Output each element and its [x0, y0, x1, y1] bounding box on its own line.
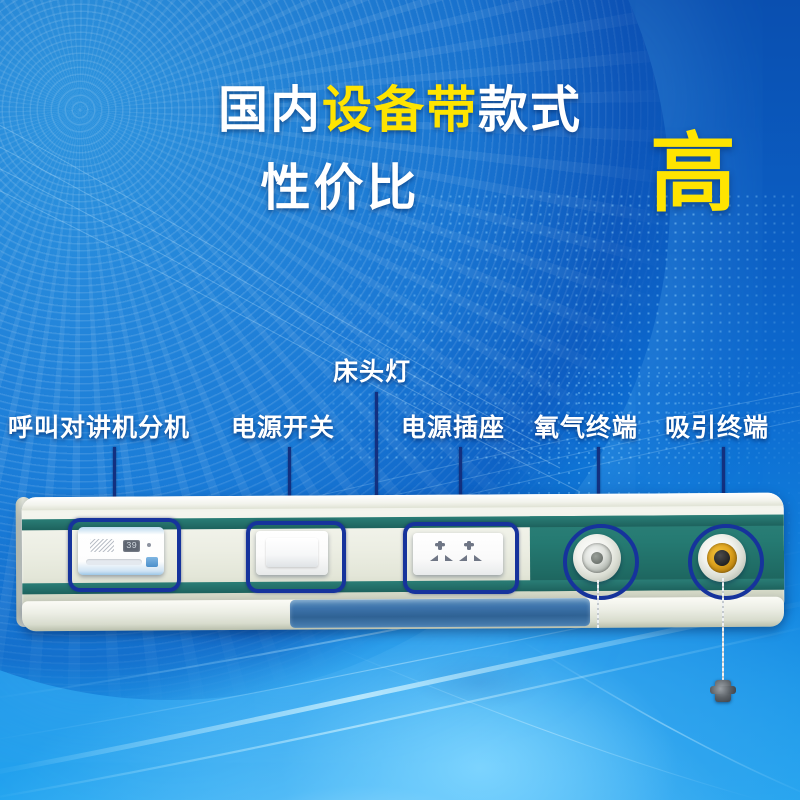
highlight-circle-suction-terminal	[688, 524, 764, 600]
promo-banner: 国内设备带款式 性价比 高 呼叫对讲机分机 电源开关 床头灯 电源插座 氧气终端…	[0, 0, 800, 800]
highlight-circle-oxygen-terminal	[563, 524, 639, 600]
callout-label-suction-terminal: 吸引终端	[665, 414, 769, 442]
suction-pull-cord[interactable]	[722, 578, 724, 683]
callout-label-oxygen-terminal: 氧气终端	[534, 414, 638, 442]
callout-label-power-switch: 电源开关	[231, 414, 335, 442]
callout-label-bed-lamp: 床头灯	[333, 358, 411, 386]
oxygen-pull-cord	[597, 580, 599, 628]
pull-cord-handle[interactable]	[715, 680, 731, 702]
highlight-box-power-switch	[246, 521, 346, 593]
highlight-box-intercom	[68, 518, 181, 592]
bed-lamp-light-strip[interactable]	[290, 598, 590, 628]
callout-label-intercom: 呼叫对讲机分机	[8, 414, 190, 442]
headline-big-word: 高	[650, 130, 736, 218]
highlight-box-power-socket	[403, 522, 519, 594]
panel-top-edge	[22, 493, 784, 511]
callout-label-power-socket: 电源插座	[401, 414, 505, 442]
